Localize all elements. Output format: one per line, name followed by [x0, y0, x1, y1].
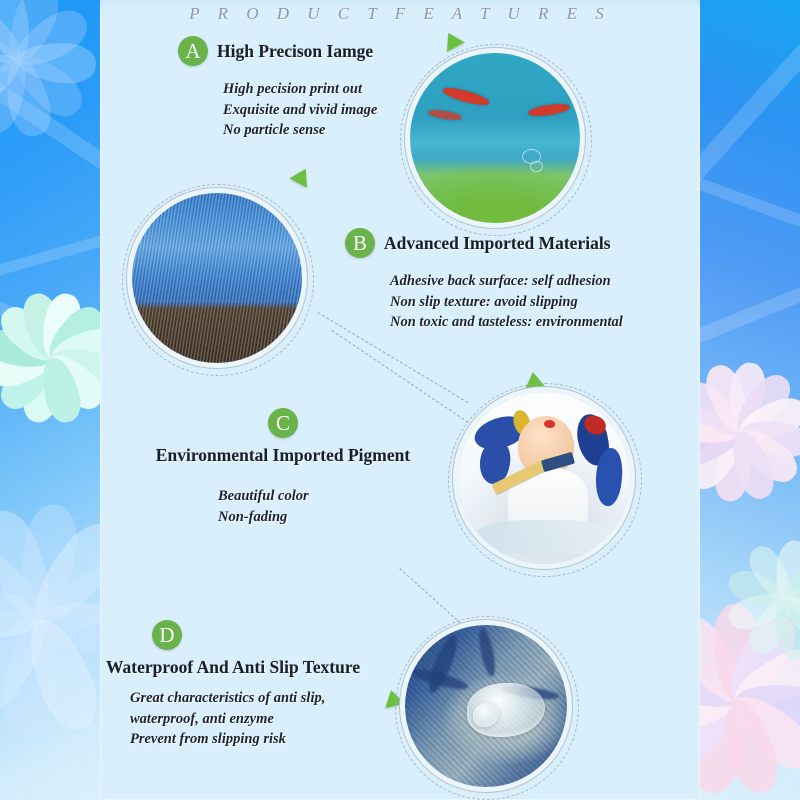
- feature-a-heading: A High Precison Iamge: [178, 36, 377, 66]
- badge-c: C: [268, 408, 298, 438]
- feature-b-bullet: Non slip texture: avoid slipping: [390, 292, 623, 313]
- feature-d-title: Waterproof And Anti Slip Texture: [106, 657, 360, 678]
- koi-icon: [428, 108, 463, 122]
- feature-b-bullet: Adhesive back surface: self adhesion: [390, 271, 623, 292]
- badge-d: D: [152, 620, 182, 650]
- decorative-band: [700, 0, 800, 189]
- arrow-icon-b: [289, 164, 314, 188]
- photo-a-image: [410, 53, 580, 223]
- feature-c-bullet: Non-fading: [218, 507, 468, 528]
- page-title: P R O D U C T F E A T U R E S: [100, 4, 700, 24]
- photo-c-image: [458, 392, 630, 564]
- feature-c-bullet: Beautiful color: [218, 486, 468, 507]
- blue-ribbed-fabric-photo: [132, 193, 302, 363]
- koi-fish-over-green-grass-photo: [410, 53, 580, 223]
- main-content-panel: P R O D U C T F E A T U R E S A High Pre…: [100, 0, 700, 800]
- feature-block-b: B Advanced Imported Materials Adhesive b…: [345, 228, 623, 333]
- right-decorative-border: [700, 0, 800, 800]
- decorative-band: [700, 244, 800, 369]
- feature-d-bullets: Great characteristics of anti slip, wate…: [130, 688, 360, 750]
- feature-b-bullet: Non toxic and tasteless: environmental: [390, 312, 623, 333]
- feature-b-heading: B Advanced Imported Materials: [345, 228, 623, 258]
- feature-block-c: C Environmental Imported Pigment Beautif…: [98, 408, 468, 527]
- feature-c-badge-wrap: C: [98, 408, 468, 438]
- feature-d-badge-wrap: D: [152, 620, 360, 650]
- feature-a-bullet: High pecision print out: [223, 79, 377, 100]
- feature-block-d: D Waterproof And Anti Slip Texture Great…: [106, 620, 360, 750]
- left-decorative-border: [0, 0, 100, 800]
- feature-b-title: Advanced Imported Materials: [384, 233, 611, 254]
- infographic-canvas: P R O D U C T F E A T U R E S A High Pre…: [0, 0, 800, 800]
- feature-a-title: High Precison Iamge: [217, 41, 373, 62]
- paint-splatter: [544, 420, 555, 428]
- badge-a: A: [178, 36, 208, 66]
- texture-streak: [476, 626, 498, 677]
- feature-a-bullet: No particle sense: [223, 120, 377, 141]
- feature-b-bullets: Adhesive back surface: self adhesion Non…: [390, 271, 623, 333]
- feature-block-a: A High Precison Iamge High pecision prin…: [178, 36, 377, 141]
- photo-b-image: [132, 193, 302, 363]
- feature-d-bullet: waterproof, anti enzyme: [130, 709, 360, 730]
- koi-icon: [441, 85, 490, 109]
- badge-b: B: [345, 228, 375, 258]
- water-droplet-texture-photo: [405, 625, 567, 787]
- feature-a-bullet: Exquisite and vivid image: [223, 100, 377, 121]
- decorative-band: [700, 149, 800, 263]
- ripple-icon: [530, 161, 543, 172]
- feature-a-bullets: High pecision print out Exquisite and vi…: [223, 79, 377, 141]
- paint-floor: [476, 520, 616, 554]
- decorative-band: [0, 214, 100, 296]
- arrow-icon-a: [439, 28, 464, 52]
- feature-d-bullet: Prevent from slipping risk: [130, 729, 360, 750]
- baby-painting-photo: [458, 392, 630, 564]
- feature-c-title: Environmental Imported Pigment: [98, 445, 468, 466]
- feature-d-bullet: Great characteristics of anti slip,: [130, 688, 360, 709]
- feature-c-bullets: Beautiful color Non-fading: [218, 486, 468, 527]
- koi-icon: [528, 102, 571, 118]
- photo-d-image: [405, 625, 567, 787]
